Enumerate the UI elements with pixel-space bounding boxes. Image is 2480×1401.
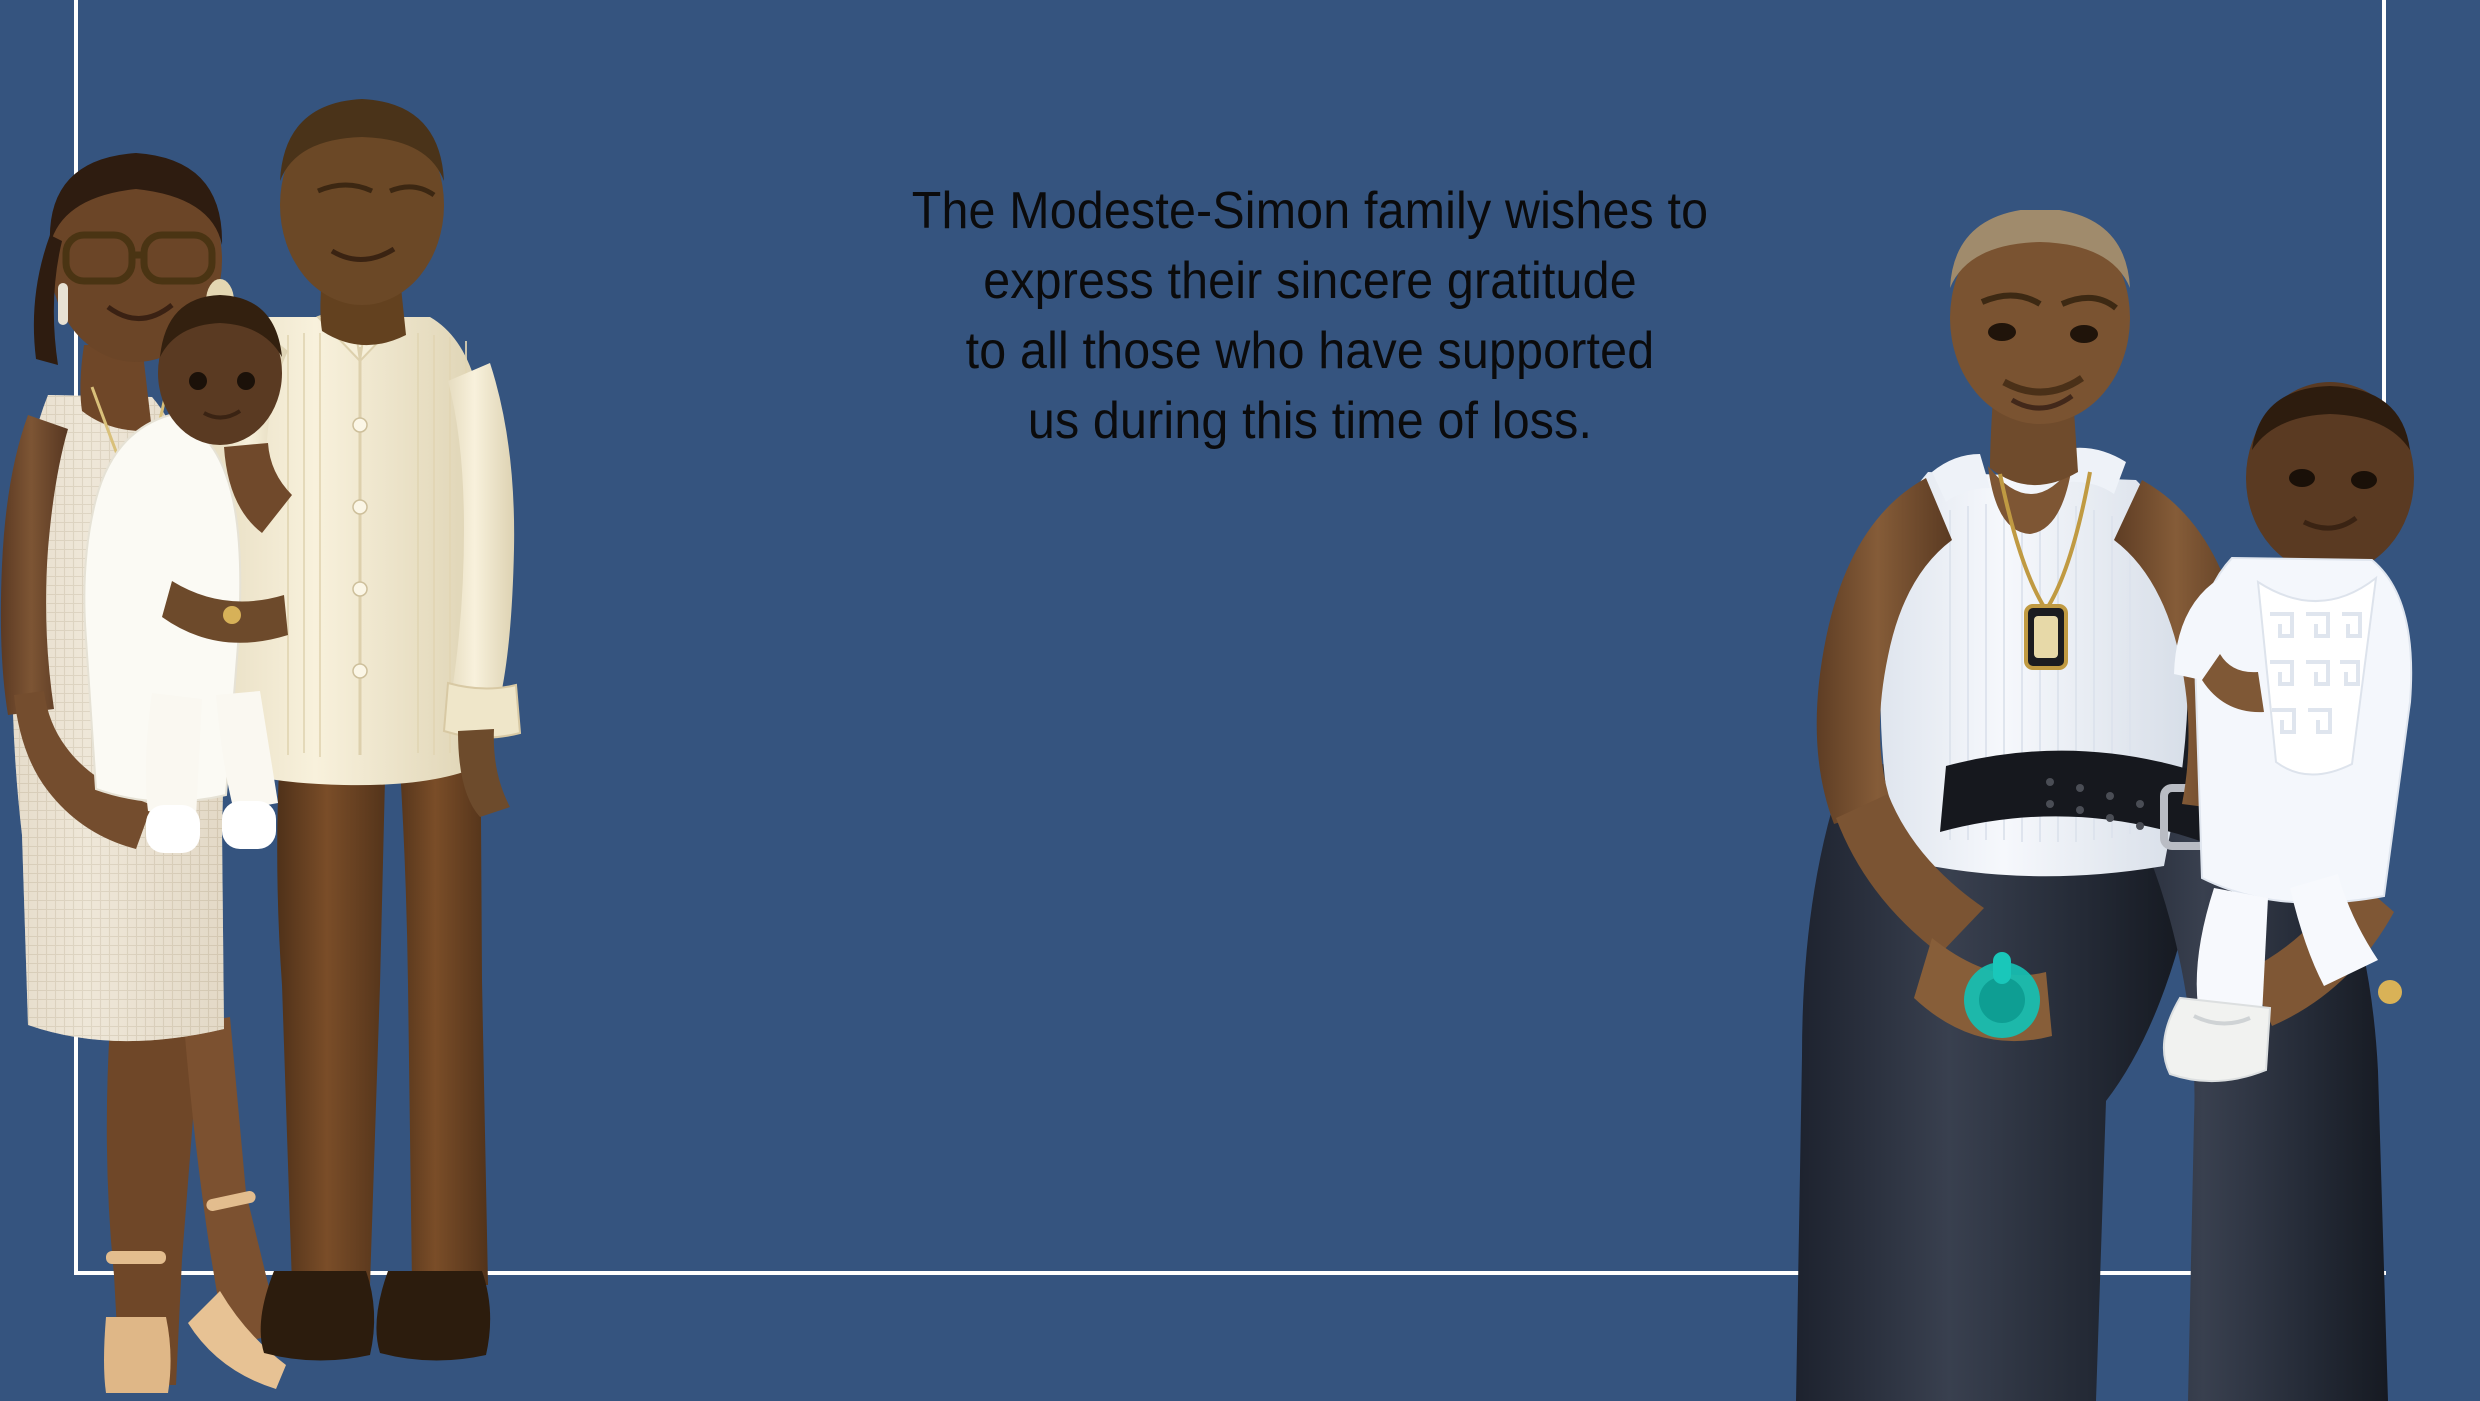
- frame-left-rule: [74, 0, 78, 1275]
- frame-bottom-rule: [74, 1271, 2386, 1275]
- frame-right-rule: [2382, 0, 2386, 522]
- memorial-thank-you-slide: The Modeste-Simon family wishes to expre…: [0, 0, 2480, 1401]
- thank-you-message: The Modeste-Simon family wishes to expre…: [780, 176, 1840, 456]
